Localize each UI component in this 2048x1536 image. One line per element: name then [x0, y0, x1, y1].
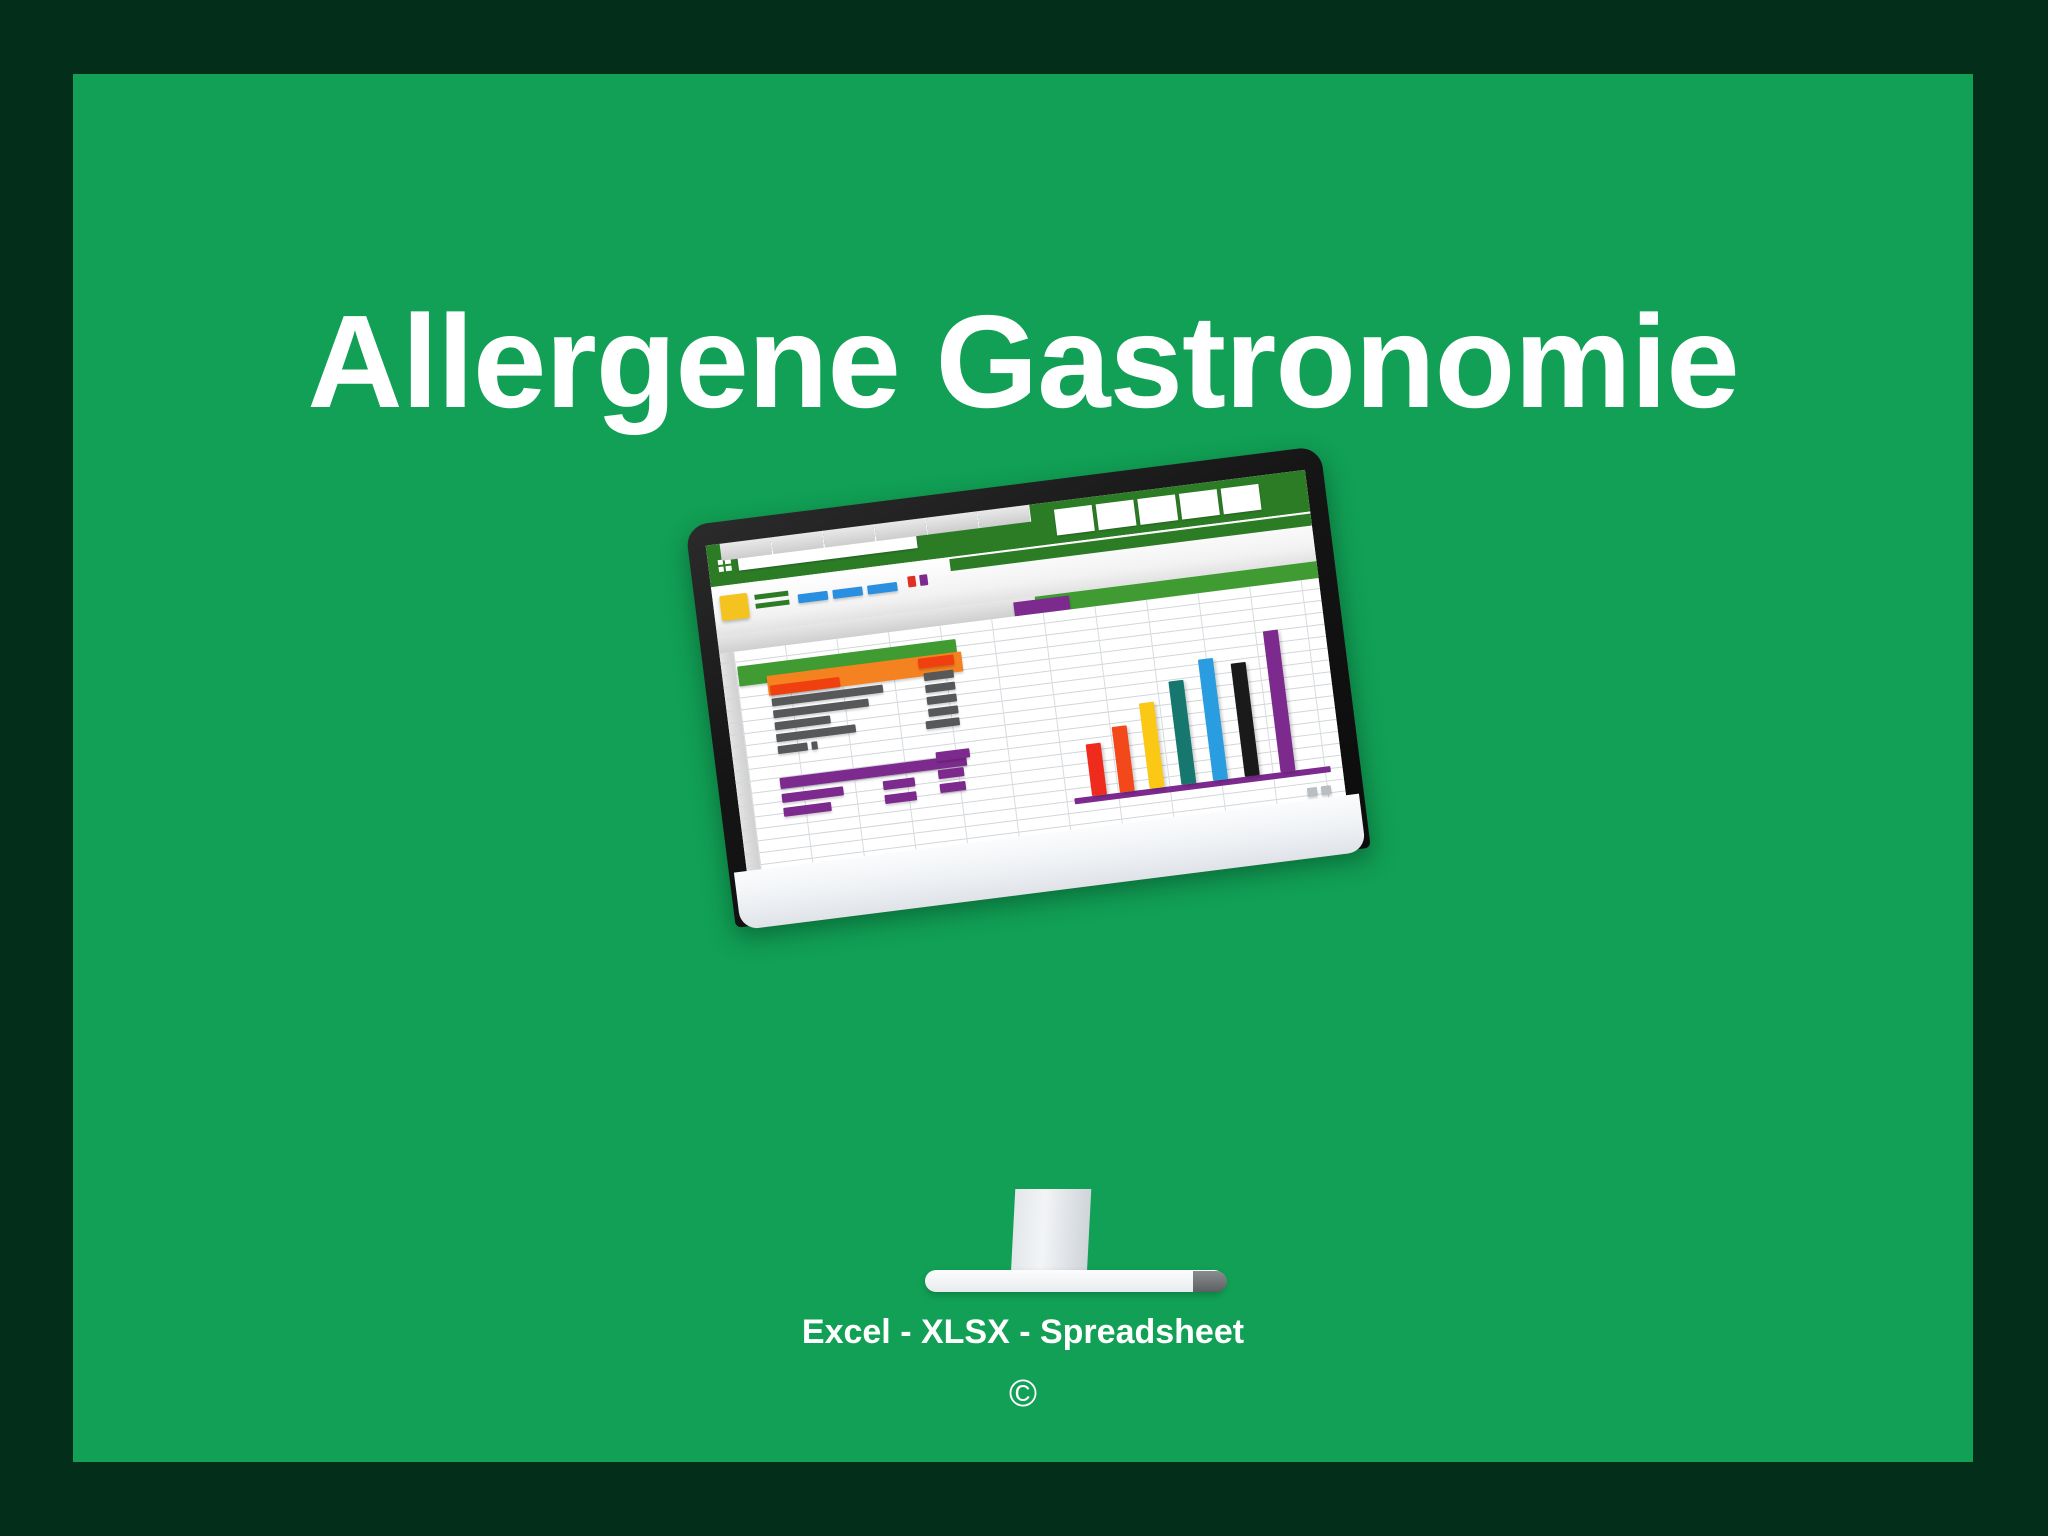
tab-2[interactable] — [1096, 500, 1137, 531]
monitor-display — [685, 446, 1371, 928]
color-swatch-purple[interactable] — [919, 574, 928, 586]
monitor-stand-foot — [925, 1270, 1225, 1292]
tab-1[interactable] — [1054, 505, 1095, 536]
chart-bar — [1168, 680, 1196, 785]
inner-green-panel: Allergene Gastronomie — [73, 74, 1973, 1462]
status-bar-icon[interactable] — [1321, 785, 1332, 795]
copyright-icon: © — [73, 1375, 1973, 1413]
chart-bar — [1263, 630, 1296, 773]
monitor-stand-neck — [1011, 1189, 1092, 1277]
file-format-label: Excel - XLSX - Spreadsheet — [73, 1312, 1973, 1353]
chart-bar — [1112, 725, 1135, 792]
poster-canvas: Allergene Gastronomie — [0, 0, 2048, 1536]
tab-3[interactable] — [1137, 494, 1178, 525]
chart-bar — [1198, 658, 1228, 781]
chart-bar — [1086, 743, 1107, 796]
bar-chart — [1047, 582, 1339, 819]
chart-bar — [1139, 702, 1165, 789]
ribbon-group-a[interactable] — [935, 543, 946, 552]
footer: Excel - XLSX - Spreadsheet © — [73, 1312, 1973, 1413]
chart-bar — [1231, 662, 1260, 777]
data-row-gray-dot — [811, 741, 818, 750]
status-bar-icon[interactable] — [1307, 787, 1318, 797]
page-title: Allergene Gastronomie — [73, 296, 1973, 428]
monitor-illustration — [713, 484, 1393, 1084]
tab-4[interactable] — [1179, 489, 1220, 520]
format-paint-button[interactable] — [719, 593, 750, 621]
monitor-stand-foot-cap — [1193, 1271, 1227, 1292]
color-swatch-red[interactable] — [907, 576, 916, 588]
tab-5[interactable] — [1221, 484, 1262, 515]
app-logo-icon — [718, 559, 732, 573]
